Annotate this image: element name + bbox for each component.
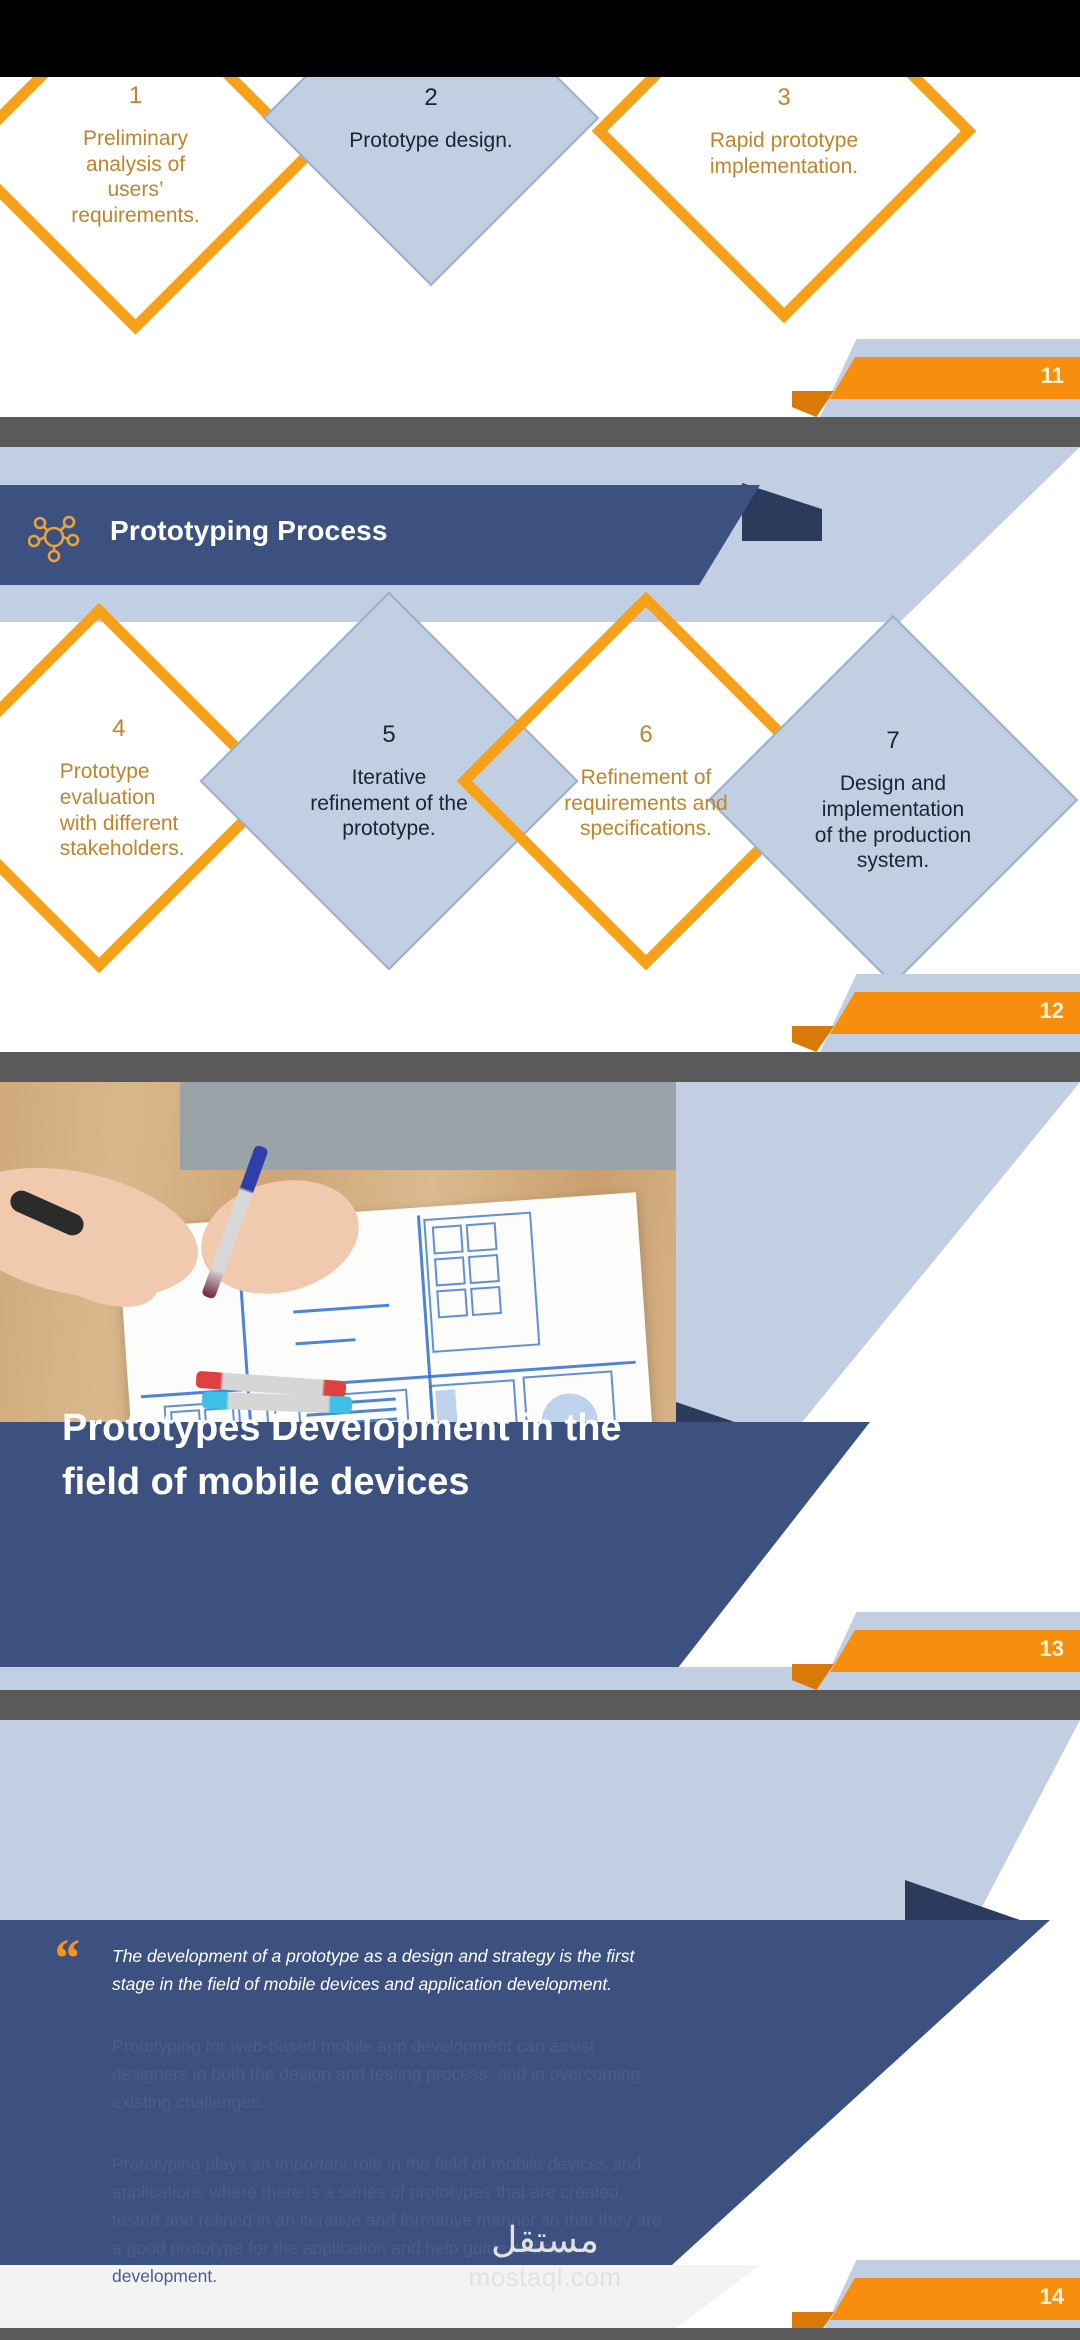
slide-separator-1 — [0, 417, 1080, 447]
step-number: 1 — [56, 81, 214, 110]
watermark-arabic: مستقل — [430, 2222, 660, 2258]
slide-footer-ribbon: 11 — [780, 339, 1080, 417]
slide-13: Prototypes Development in the field of m… — [0, 1082, 1080, 1690]
step-number: 7 — [814, 726, 971, 755]
page-number: 11 — [1041, 363, 1064, 389]
step-label: Rapid prototype implementation. — [694, 128, 874, 179]
step-label: Refinement of requirements and specifica… — [563, 765, 729, 842]
slide-footer-ribbon: 14 — [780, 2260, 1080, 2338]
slide-separator-3 — [0, 1690, 1080, 1720]
page-number: 12 — [1040, 998, 1064, 1024]
slide-footer-ribbon: 13 — [780, 1612, 1080, 1690]
step-number: 4 — [52, 714, 185, 743]
diamond-step-7: 7 Design and implementation of the produ… — [762, 669, 1024, 931]
watermark-latin: mostaql.com — [430, 2262, 660, 2293]
prototype-sketch-photo — [0, 1082, 676, 1438]
quote-text: The development of a prototype as a desi… — [112, 1942, 662, 1998]
step-label: Iterative refinement of the prototype. — [301, 765, 478, 842]
network-nodes-icon — [28, 511, 80, 563]
section-title: Prototyping Process — [110, 515, 388, 547]
step-label: Prototype design. — [333, 128, 528, 154]
step-number: 3 — [694, 83, 874, 112]
diamond-step-1: 1 Preliminary analysis of users’ require… — [8, 77, 263, 282]
slide13-light-shape — [676, 1082, 1080, 1438]
bottom-bar — [0, 2328, 1080, 2340]
step-number: 5 — [301, 720, 478, 749]
page-number: 13 — [1040, 1636, 1064, 1662]
diamond-step-2: 2 Prototype design. — [312, 77, 550, 237]
step-number: 2 — [333, 83, 528, 112]
step-label: Design and implementation of the product… — [814, 771, 971, 873]
header-blue-bar: Prototyping Process — [0, 485, 760, 585]
mostaql-watermark: مستقل mostaql.com — [430, 2222, 660, 2293]
diamond-step-3: 3 Rapid prototype implementation. — [648, 77, 920, 267]
slide-footer-ribbon: 12 — [780, 974, 1080, 1052]
slide-11: 1 Preliminary analysis of users’ require… — [0, 77, 1080, 417]
step-label: Preliminary analysis of users’ requireme… — [56, 126, 214, 228]
step-number: 6 — [563, 720, 729, 749]
diamond-step-4: 4 Prototype evaluation with different st… — [0, 657, 230, 919]
quote-mark-icon: “ — [52, 1942, 79, 1974]
paragraph-1: Prototyping for web-based mobile app dev… — [112, 2032, 662, 2116]
slide-separator-2 — [0, 1052, 1080, 1082]
screenshot-canvas: 1 Preliminary analysis of users’ require… — [0, 0, 1080, 2340]
step-label: Prototype evaluation with different stak… — [60, 759, 186, 861]
slide-12: Prototyping Process 4 Prototype evaluati… — [0, 447, 1080, 1052]
slide-title: Prototypes Development in the field of m… — [62, 1402, 622, 1510]
top-black-bar — [0, 0, 1080, 77]
page-number: 14 — [1040, 2284, 1064, 2310]
section-header: Prototyping Process — [0, 447, 1080, 622]
